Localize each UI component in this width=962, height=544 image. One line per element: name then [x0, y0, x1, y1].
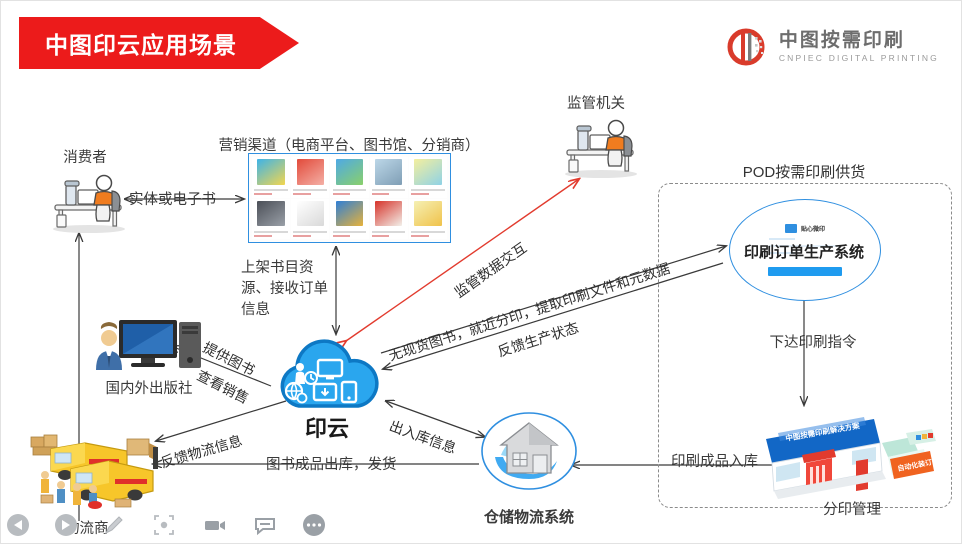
player-toolbar[interactable] [7, 514, 325, 536]
edge-label-consumer-marketing: 实体或电子书 [129, 188, 216, 209]
edge-label-marketing-cloud: 上架书目资源、接收订单信息 [241, 258, 329, 321]
mini-app-name: 贴心微印 [801, 224, 825, 233]
mini-app-submit-button [768, 267, 842, 276]
node-label-print-order-system: 印刷订单生产系统 [744, 241, 864, 262]
more-options-icon[interactable] [303, 514, 325, 536]
delivery-trucks-icon [23, 413, 175, 516]
edge-label-cloud-warehouse: 出入库信息 [387, 416, 460, 459]
node-label-warehouse: 仓储物流系统 [484, 506, 574, 527]
video-camera-icon[interactable] [203, 514, 227, 536]
slide-canvas: 中图印云应用场景 中图按需印刷 CNPIEC DIGITAL PRINTING [0, 0, 962, 544]
cnpiec-logo-icon [724, 27, 770, 67]
page-title: 中图印云应用场景 [19, 17, 299, 69]
edge-label-print-to-booth: 下达印刷指令 [770, 331, 857, 352]
pen-icon[interactable] [103, 514, 127, 536]
edge-label-regulator-cloud: 监管数据交互 [450, 238, 530, 303]
previous-icon[interactable] [7, 514, 29, 536]
node-label-distributed-print: 分印管理 [823, 498, 881, 519]
logo-chinese-name: 中图按需印刷 [779, 31, 939, 50]
person-at-desk-icon [553, 114, 645, 185]
person-at-desk-icon [41, 169, 133, 240]
print-booth-icon: 中图按需印刷解决方案 自动化装订 [756, 409, 946, 506]
node-label-consumer: 消费者 [63, 146, 107, 167]
cloud-icon [266, 334, 388, 416]
warehouse-house-icon [479, 411, 579, 502]
edge-label-warehouse-logistics: 图书成品出库，发货 [266, 453, 397, 474]
chat-bubble-icon[interactable] [253, 514, 277, 536]
focus-icon[interactable] [153, 514, 177, 536]
brand-logo: 中图按需印刷 CNPIEC DIGITAL PRINTING [724, 27, 939, 67]
edge-label-booth-to-warehouse: 印刷成品入库 [671, 450, 758, 471]
node-label-publisher: 国内外出版社 [106, 377, 193, 398]
product-grid-icon [248, 153, 451, 243]
node-label-marketing-channel: 营销渠道（电商平台、图书馆、分销商） [219, 134, 480, 155]
node-label-cloud: 印云 [305, 411, 349, 443]
node-label-regulator: 监管机关 [567, 92, 625, 113]
mini-app-logo-icon [785, 224, 797, 233]
logo-english-name: CNPIEC DIGITAL PRINTING [779, 54, 939, 63]
group-label-pod: POD按需印刷供货 [743, 161, 866, 182]
edge-label-marketing-cloud-text: 上架书目资源、接收订单信息 [241, 260, 328, 318]
next-icon[interactable] [55, 514, 77, 536]
